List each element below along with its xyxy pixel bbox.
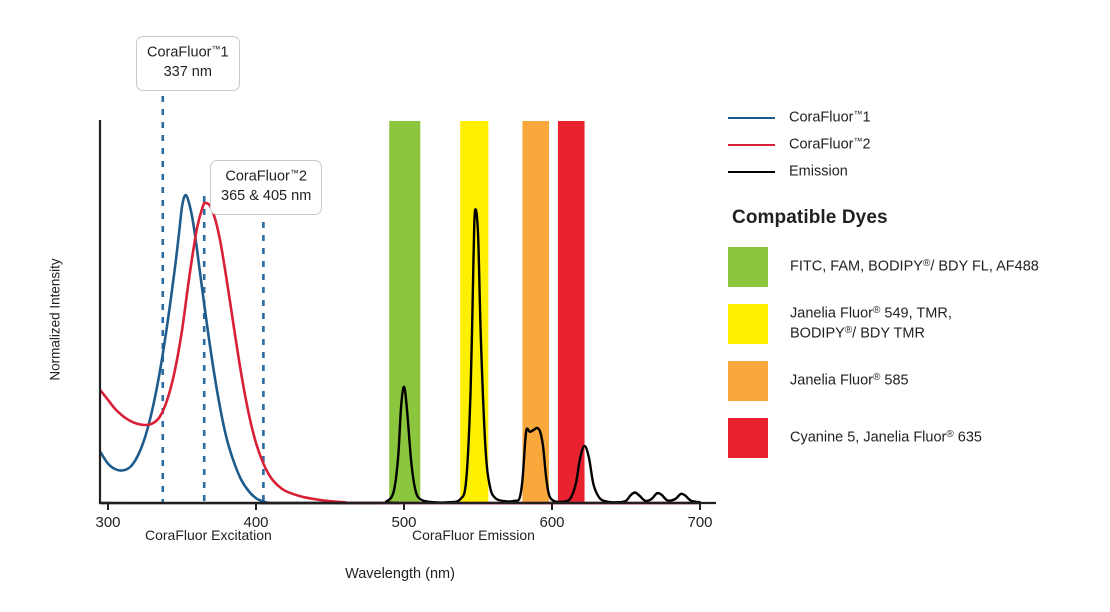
red-band <box>558 121 585 503</box>
dye-label: Cyanine 5, Janelia Fluor® 635 <box>790 428 982 448</box>
dye-color-swatch <box>728 418 768 458</box>
legend-series-row: Emission <box>728 158 1110 185</box>
dye-row: Janelia Fluor® 585 <box>728 361 1110 401</box>
callout-corafluor1-line2: 337 nm <box>147 63 229 83</box>
dye-label: Janelia Fluor® 549, TMR,BODIPY®/ BDY TMR <box>790 304 952 344</box>
orange-band <box>522 121 549 503</box>
x-tick-label: 300 <box>95 514 120 531</box>
dye-color-swatch <box>728 304 768 344</box>
callout-corafluor1-line1: CoraFluor™1 <box>147 43 229 63</box>
series-legend: CoraFluor™1CoraFluor™2Emission <box>728 104 1110 185</box>
x-tick-label: 600 <box>539 514 564 531</box>
dye-row: Cyanine 5, Janelia Fluor® 635 <box>728 418 1110 458</box>
callout-corafluor2-line2: 365 & 405 nm <box>221 187 311 207</box>
x-axis-label: Wavelength (nm) <box>100 566 700 582</box>
legend-line-swatch <box>728 171 775 173</box>
dye-color-swatch <box>728 247 768 287</box>
legend-panel: CoraFluor™1CoraFluor™2Emission Compatibl… <box>728 104 1110 475</box>
x-tick-label: 700 <box>687 514 712 531</box>
legend-series-label: Emission <box>789 163 848 180</box>
legend-series-label: CoraFluor™2 <box>789 136 871 153</box>
dye-label: FITC, FAM, BODIPY®/ BDY FL, AF488 <box>790 257 1039 277</box>
legend-series-row: CoraFluor™1 <box>728 104 1110 131</box>
callout-corafluor1: CoraFluor™1 337 nm <box>136 36 240 91</box>
legend-series-row: CoraFluor™2 <box>728 131 1110 158</box>
excitation-region-label: CoraFluor Excitation <box>145 527 272 543</box>
compatible-dyes-title: Compatible Dyes <box>732 207 1110 229</box>
y-axis-label: Normalized Intensity <box>48 230 63 410</box>
plot-area: 300400500600700 Normalized Intensity Cor… <box>0 0 730 612</box>
spectra-plot: 300400500600700 <box>0 0 730 612</box>
dye-row: Janelia Fluor® 549, TMR,BODIPY®/ BDY TMR <box>728 304 1110 344</box>
dye-color-swatch <box>728 361 768 401</box>
legend-line-swatch <box>728 117 775 119</box>
compatible-dyes-list: FITC, FAM, BODIPY®/ BDY FL, AF488Janelia… <box>728 247 1110 458</box>
emission-region-label: CoraFluor Emission <box>412 527 535 543</box>
legend-line-swatch <box>728 144 775 146</box>
green-band <box>389 121 420 503</box>
dye-row: FITC, FAM, BODIPY®/ BDY FL, AF488 <box>728 247 1110 287</box>
callout-corafluor2-line1: CoraFluor™2 <box>221 167 311 187</box>
spectra-figure: 300400500600700 Normalized Intensity Cor… <box>0 0 1110 612</box>
legend-series-label: CoraFluor™1 <box>789 109 871 126</box>
callout-corafluor2: CoraFluor™2 365 & 405 nm <box>210 160 322 215</box>
dye-label: Janelia Fluor® 585 <box>790 371 909 391</box>
